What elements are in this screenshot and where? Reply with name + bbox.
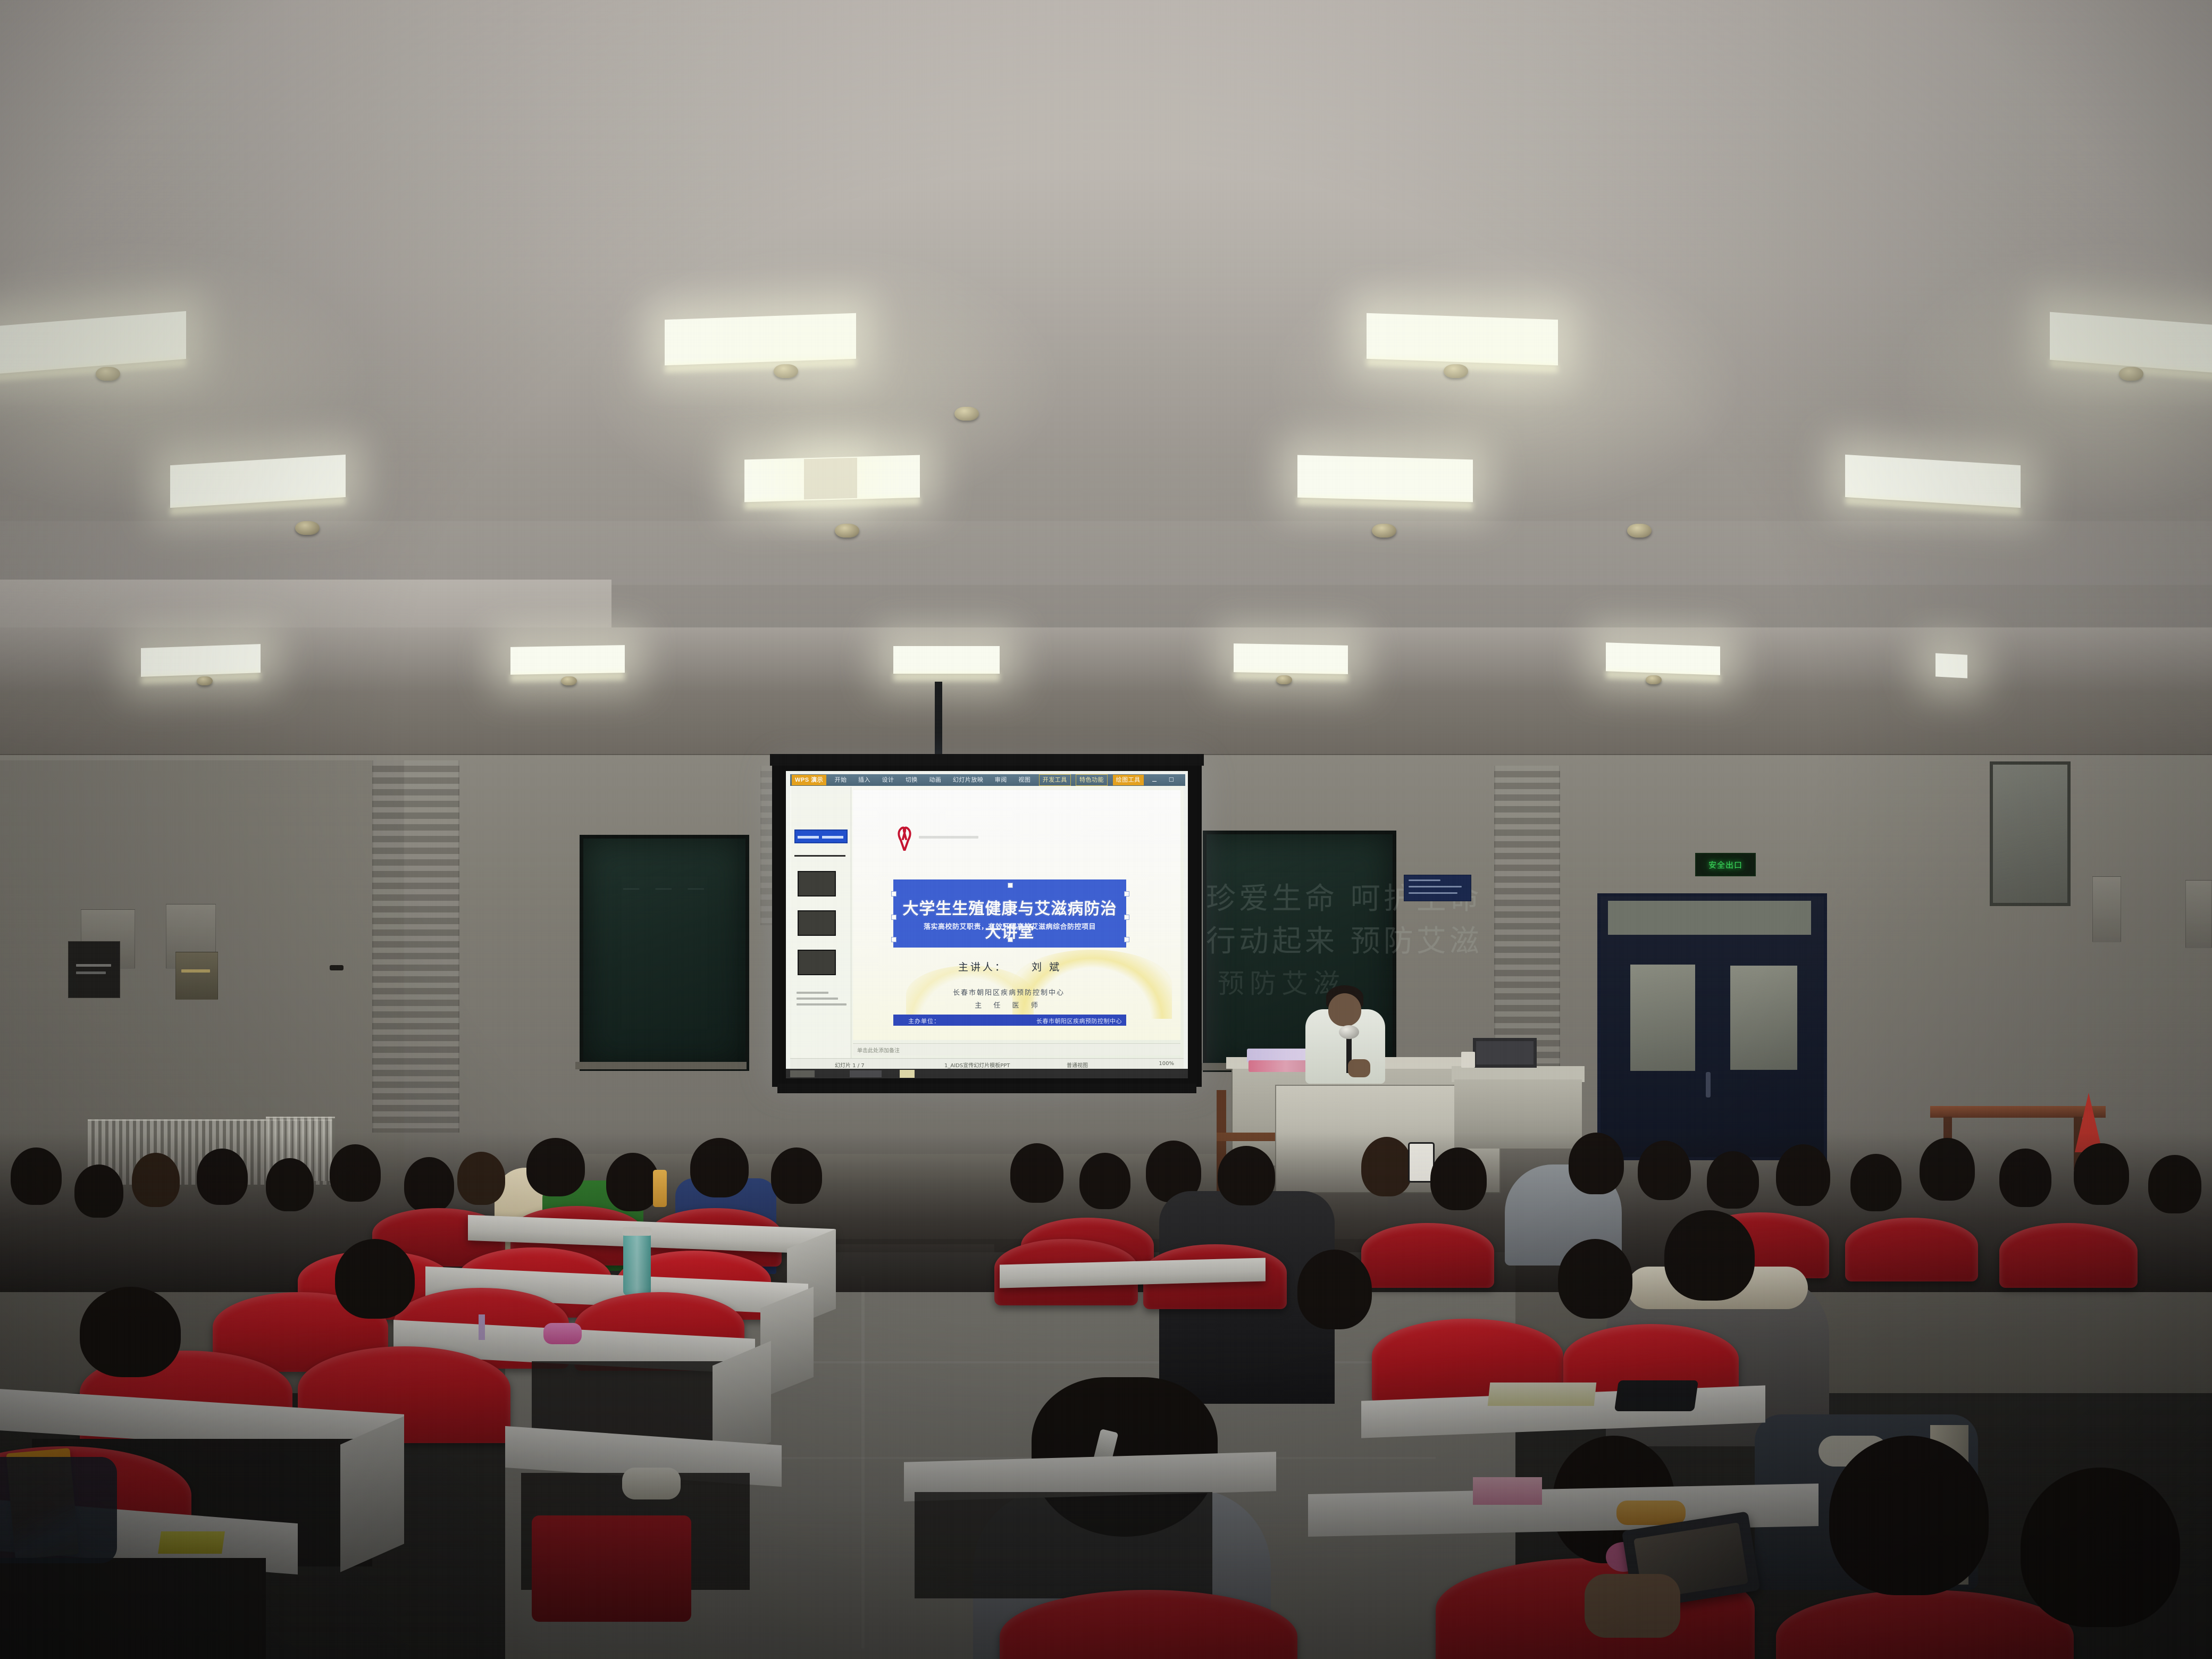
photo-grain-overlay — [0, 0, 2212, 1659]
lecture-hall-photo: — — — 珍爱生命 呵护生命 行动起来 预防艾滋 预防艾滋 安全出口 — [0, 0, 2212, 1659]
